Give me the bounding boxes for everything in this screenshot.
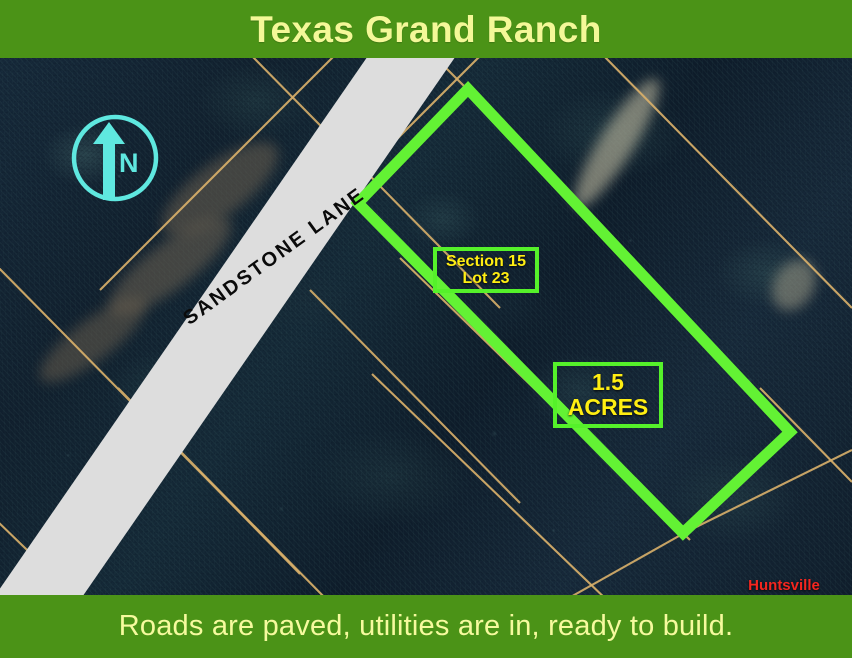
compass-north-icon: N (69, 112, 161, 204)
lot-label: Lot 23 (462, 270, 509, 287)
compass-label: N (119, 150, 139, 177)
acreage-value: 1.5 (592, 370, 624, 395)
page-title: Texas Grand Ranch (250, 11, 602, 48)
aerial-map[interactable]: SANDSTONE LANE N Section 15 Lot 23 1.5 A… (0, 58, 852, 595)
acreage-unit: ACRES (568, 395, 649, 420)
property-lines-secondary (196, 58, 852, 595)
parcel-boundary (358, 89, 790, 533)
lot-map-flyer: Texas Grand Ranch (0, 0, 852, 658)
section-lot-callout: Section 15 Lot 23 (433, 247, 539, 293)
header-banner: Texas Grand Ranch (0, 0, 852, 58)
park-label-line1: Huntsville (728, 578, 840, 595)
acreage-callout: 1.5 ACRES (553, 362, 663, 428)
footer-banner: Roads are paved, utilities are in, ready… (0, 595, 852, 658)
footer-tagline: Roads are paved, utilities are in, ready… (119, 612, 734, 641)
section-label: Section 15 (446, 253, 526, 270)
park-label: Huntsville State Park (728, 578, 840, 595)
